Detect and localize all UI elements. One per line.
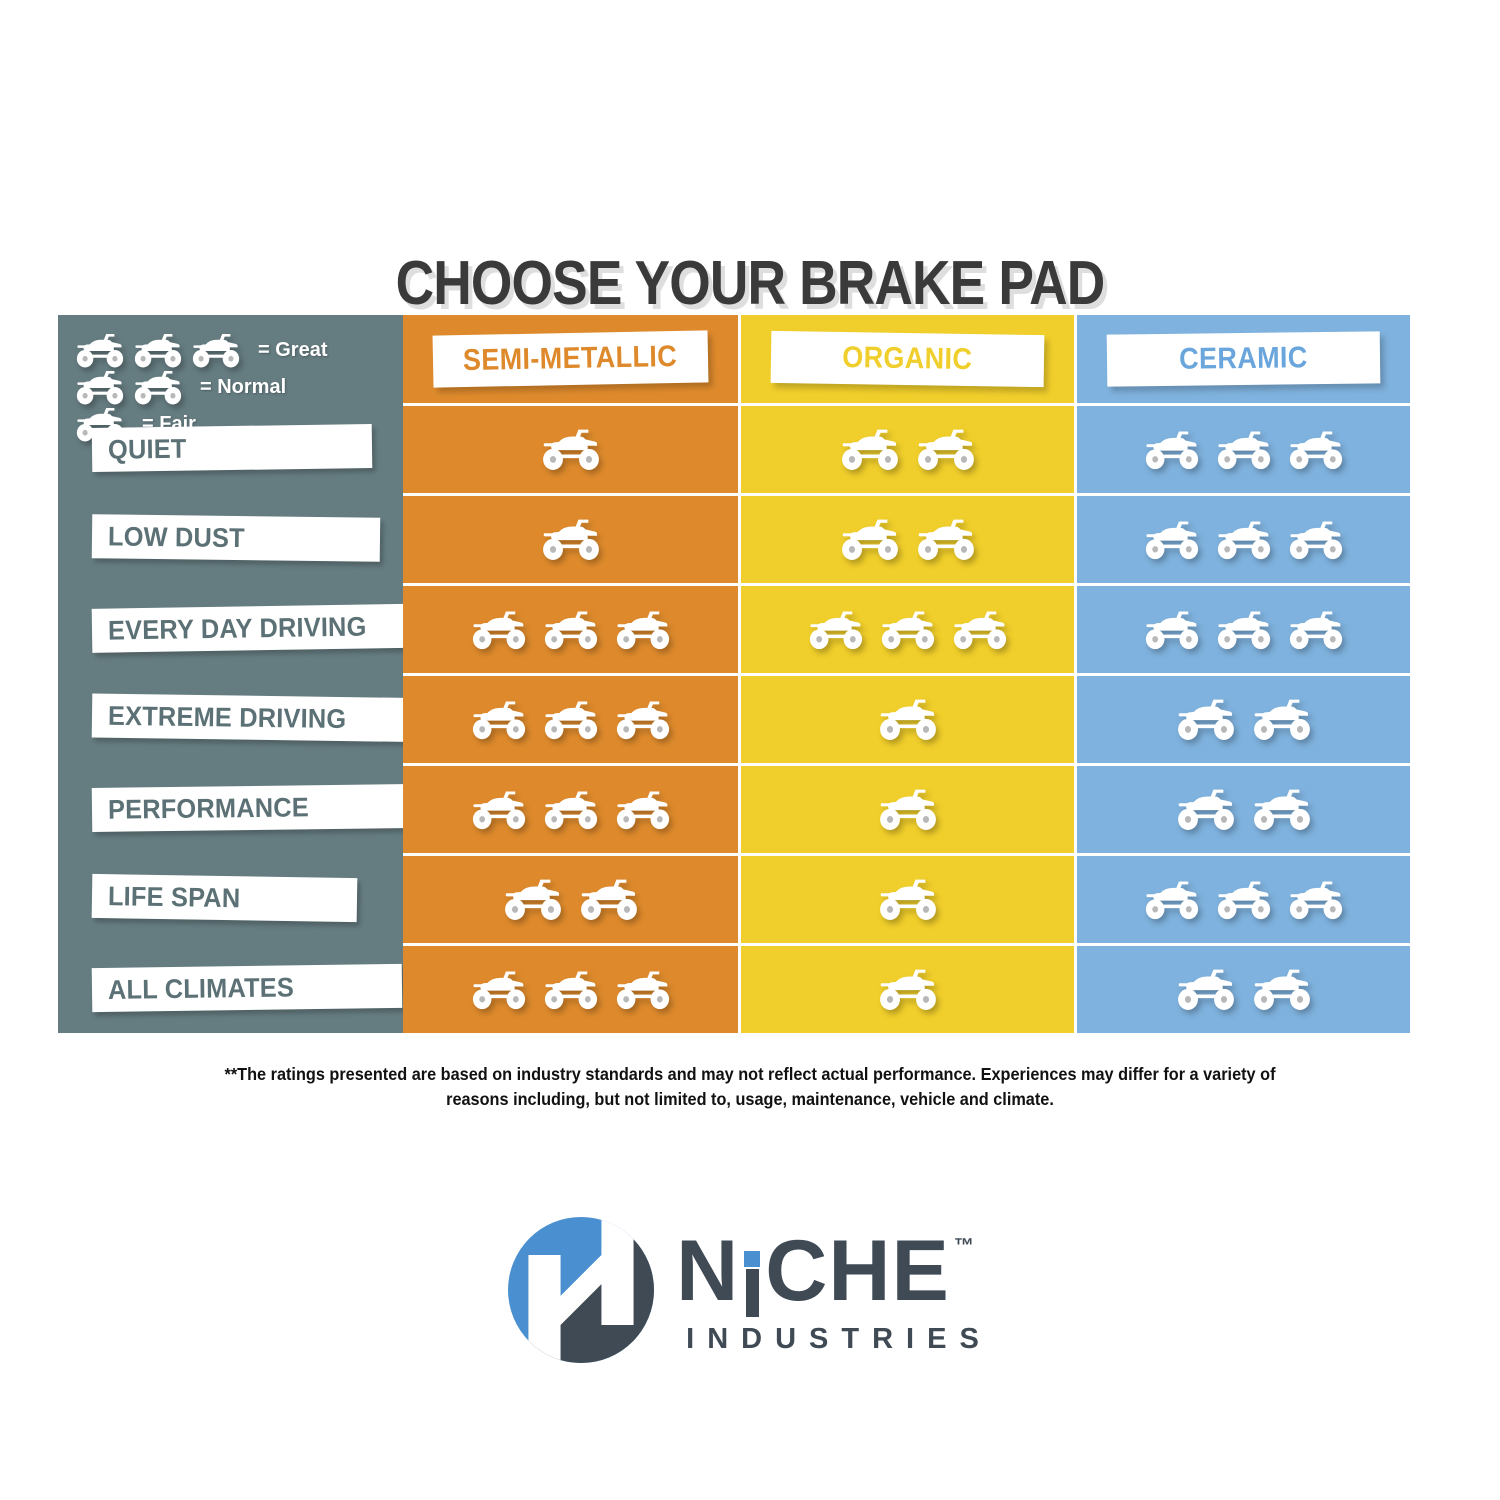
- logo-wordmark: N CHE ™ INDUSTRIES: [676, 1225, 992, 1356]
- atv-icon: [542, 969, 600, 1011]
- header-label: SEMI-METALLIC: [463, 340, 678, 378]
- column-semi-metallic: SEMI-METALLIC: [403, 315, 738, 1033]
- logo-trademark: ™: [954, 1237, 975, 1256]
- row-label-quiet: QUIET: [92, 424, 373, 472]
- atv-icon: [74, 369, 126, 406]
- row-label-all-climates: ALL CLIMATES: [92, 964, 403, 1012]
- atv-icon: [951, 609, 1009, 651]
- atv-icon: [74, 332, 126, 369]
- atv-icon: [915, 427, 977, 472]
- atv-icon: [540, 427, 602, 472]
- infographic-page: CHOOSE YOUR BRAKE PAD = Great= Normal= F…: [0, 0, 1500, 1500]
- atv-icon: [132, 332, 184, 369]
- row-label-text: EVERY DAY DRIVING: [108, 611, 367, 646]
- atv-icon: [1175, 967, 1237, 1012]
- legend-row: = Normal: [74, 370, 394, 404]
- atv-icon: [877, 697, 939, 742]
- logo-word: N CHE ™: [676, 1231, 992, 1317]
- atv-icon: [470, 969, 528, 1011]
- column-ceramic: CERAMIC: [1077, 315, 1410, 1033]
- legend-label: = Great: [258, 339, 327, 362]
- header-chip: CERAMIC: [1107, 331, 1381, 386]
- atv-icon: [915, 517, 977, 562]
- rating-cell: [741, 403, 1074, 493]
- logo-i-stem: [746, 1269, 759, 1317]
- niche-industries-logo: N CHE ™ INDUSTRIES: [0, 1190, 1500, 1390]
- rating-cell: [403, 493, 738, 583]
- rating-cell: [1077, 943, 1410, 1033]
- atv-icon: [1287, 429, 1345, 471]
- rating-cell: [741, 763, 1074, 853]
- atv-icon: [877, 787, 939, 832]
- row-label-text: ALL CLIMATES: [108, 972, 294, 1006]
- atv-icon: [1143, 429, 1201, 471]
- row-label-text: PERFORMANCE: [108, 792, 309, 825]
- atv-icon: [540, 517, 602, 562]
- atv-icon: [470, 699, 528, 741]
- legend-label: = Normal: [200, 376, 286, 399]
- header-label: ORGANIC: [842, 341, 973, 377]
- atv-icon: [578, 877, 640, 922]
- atv-icon: [132, 369, 184, 406]
- rating-cell: [741, 853, 1074, 943]
- rating-cell: [1077, 763, 1410, 853]
- rating-cell: [1077, 853, 1410, 943]
- atv-icon: [1215, 879, 1273, 921]
- row-label-text: QUIET: [108, 433, 187, 465]
- atv-icon: [1251, 787, 1313, 832]
- atv-icon: [470, 609, 528, 651]
- atv-icon: [614, 969, 672, 1011]
- atv-icon: [839, 427, 901, 472]
- logo-letters-che: CHE: [765, 1231, 950, 1313]
- legend-icons: [74, 332, 248, 369]
- rating-cell: [741, 493, 1074, 583]
- atv-icon: [614, 699, 672, 741]
- atv-icon: [1251, 697, 1313, 742]
- header-label: CERAMIC: [1179, 341, 1308, 377]
- atv-icon: [1175, 787, 1237, 832]
- logo-i-dot-icon: [744, 1251, 760, 1267]
- atv-icon: [1287, 609, 1345, 651]
- row-label-text: LOW DUST: [108, 521, 245, 554]
- row-label-text: EXTREME DRIVING: [108, 700, 347, 734]
- atv-icon: [1143, 879, 1201, 921]
- atv-icon: [877, 967, 939, 1012]
- rating-cell: [1077, 493, 1410, 583]
- legend-icons: [74, 369, 190, 406]
- atv-icon: [877, 877, 939, 922]
- rating-cell: [403, 673, 738, 763]
- row-label-extreme-driving: EXTREME DRIVING: [92, 694, 448, 743]
- atv-icon: [542, 609, 600, 651]
- row-label-text: LIFE SPAN: [108, 881, 241, 914]
- row-label-life-span: LIFE SPAN: [92, 874, 358, 922]
- atv-icon: [1215, 609, 1273, 651]
- rating-cell: [403, 403, 738, 493]
- rating-cell: [403, 853, 738, 943]
- rating-cell: [403, 943, 738, 1033]
- rating-cell: [403, 763, 738, 853]
- column-organic: ORGANIC: [741, 315, 1074, 1033]
- rating-cell: [741, 673, 1074, 763]
- atv-icon: [1287, 519, 1345, 561]
- sidebar-panel: = Great= Normal= Fair QUIETLOW DUSTEVERY…: [58, 315, 403, 1033]
- atv-icon: [1175, 697, 1237, 742]
- rating-cell: [1077, 673, 1410, 763]
- atv-icon: [879, 609, 937, 651]
- logo-subtitle: INDUSTRIES: [676, 1323, 992, 1356]
- atv-icon: [614, 609, 672, 651]
- logo-letter-i: [739, 1231, 765, 1317]
- logo-letter-n: N: [676, 1231, 739, 1313]
- ratings-grid: SEMI-METALLICORGANICCERAMIC: [403, 315, 1410, 1033]
- atv-icon: [614, 789, 672, 831]
- atv-icon: [542, 789, 600, 831]
- atv-icon: [1215, 429, 1273, 471]
- row-label-performance: PERFORMANCE: [92, 784, 413, 832]
- header-chip: ORGANIC: [771, 331, 1045, 387]
- atv-icon: [1143, 609, 1201, 651]
- atv-icon: [839, 517, 901, 562]
- niche-logo-mark-icon: [508, 1217, 654, 1363]
- atv-icon: [502, 877, 564, 922]
- rating-cell: [1077, 403, 1410, 493]
- atv-icon: [1251, 967, 1313, 1012]
- column-header-organic[interactable]: ORGANIC: [741, 315, 1074, 403]
- atv-icon: [807, 609, 865, 651]
- footnote-disclaimer: **The ratings presented are based on ind…: [220, 1062, 1280, 1113]
- row-label-every-day-driving: EVERY DAY DRIVING: [92, 603, 453, 653]
- rating-cell: [403, 583, 738, 673]
- atv-icon: [190, 332, 242, 369]
- row-label-low-dust: LOW DUST: [92, 514, 381, 562]
- brake-pad-comparison-table: = Great= Normal= Fair QUIETLOW DUSTEVERY…: [58, 315, 1410, 1033]
- atv-icon: [470, 789, 528, 831]
- rating-cell: [741, 583, 1074, 673]
- header-chip: SEMI-METALLIC: [433, 330, 709, 387]
- atv-icon: [542, 699, 600, 741]
- legend-row: = Great: [74, 333, 394, 367]
- page-title: CHOOSE YOUR BRAKE PAD: [105, 248, 1395, 319]
- atv-icon: [1287, 879, 1345, 921]
- rating-cell: [1077, 583, 1410, 673]
- atv-icon: [1215, 519, 1273, 561]
- column-header-semi-metallic[interactable]: SEMI-METALLIC: [403, 315, 738, 403]
- atv-icon: [1143, 519, 1201, 561]
- rating-cell: [741, 943, 1074, 1033]
- column-header-ceramic[interactable]: CERAMIC: [1077, 315, 1410, 403]
